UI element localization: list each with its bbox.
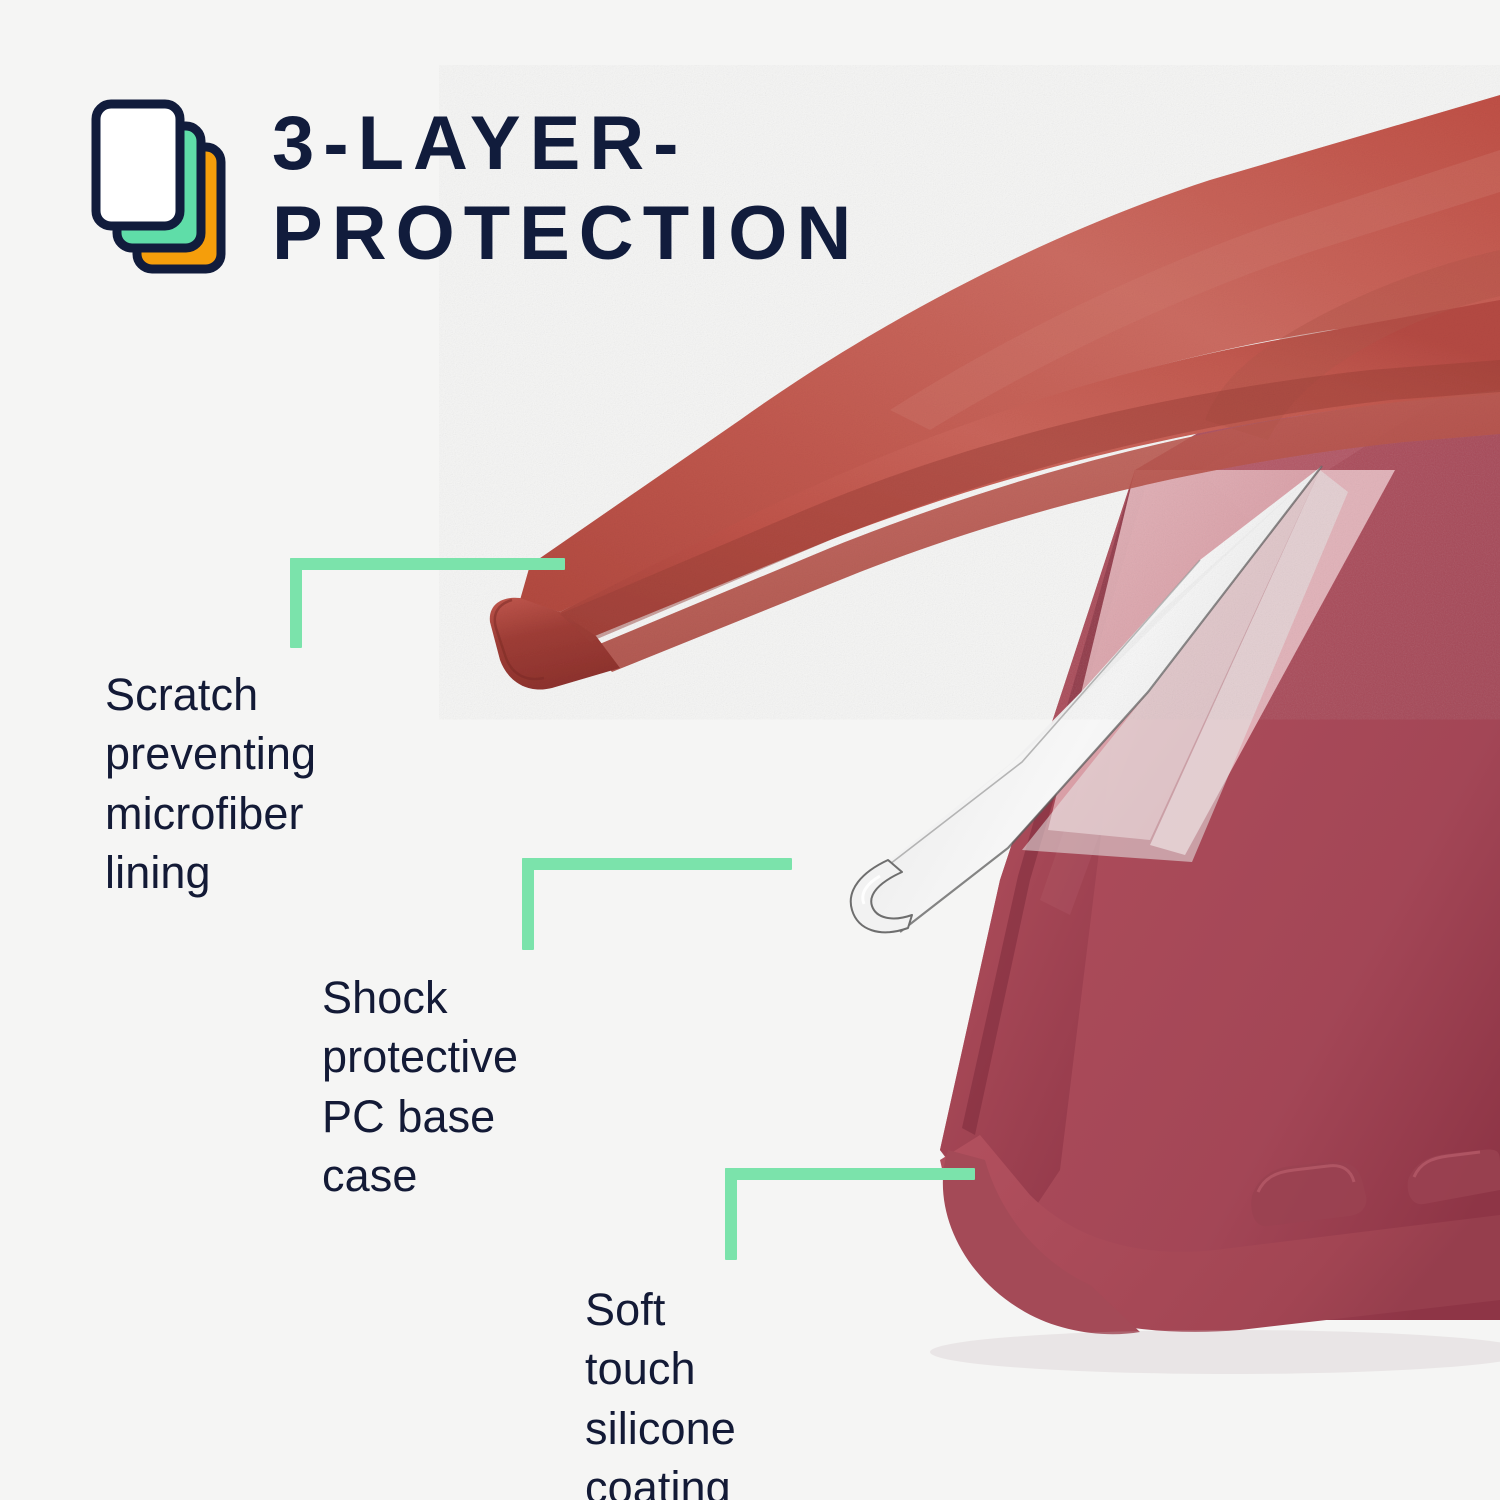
callout-2-text: Shock protective PC base case (322, 968, 518, 1206)
leader-line-1 (290, 558, 565, 648)
page-title: 3-LAYER- PROTECTION (272, 99, 860, 278)
infographic-canvas: 3-LAYER- PROTECTION Scratch preventing m… (0, 0, 1500, 1500)
leader-line-2 (522, 858, 792, 950)
leader-line-3 (725, 1168, 975, 1260)
callout-3-text: Soft touch silicone coating (585, 1280, 736, 1500)
header: 3-LAYER- PROTECTION (88, 95, 860, 280)
three-layers-stack-icon (88, 95, 228, 280)
callout-1-text: Scratch preventing microfiber lining (105, 665, 316, 903)
